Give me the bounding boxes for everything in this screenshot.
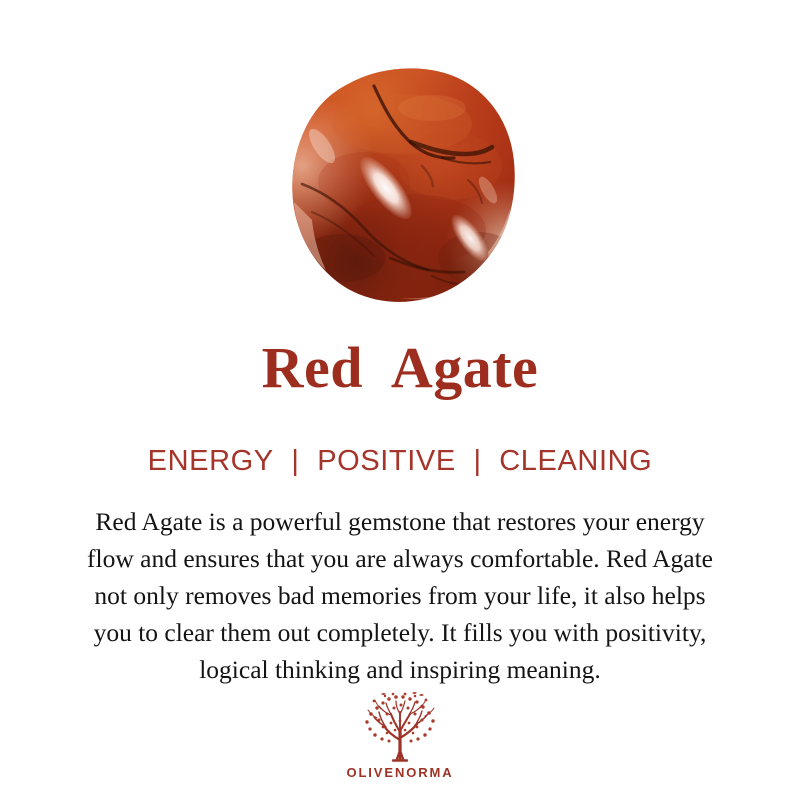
keyword-positive: POSITIVE: [317, 445, 456, 478]
page-title: Red Agate: [0, 337, 800, 399]
description-line: you to clear them out completely. It fil…: [18, 614, 782, 651]
description-line: flow and ensures that you are always com…: [18, 540, 782, 577]
brand-name: OLIVENORMA: [0, 765, 800, 780]
description-paragraph: Red Agate is a powerful gemstone that re…: [18, 503, 782, 688]
brand-logo: OLIVENORMA: [0, 692, 800, 780]
keyword-separator-1: |: [282, 445, 308, 478]
tree-logo-icon: [357, 692, 443, 764]
keyword-line: ENERGY | POSITIVE | CLEANING: [0, 445, 800, 478]
description-line: Red Agate is a powerful gemstone that re…: [18, 503, 782, 540]
keyword-energy: ENERGY: [148, 445, 274, 478]
gemstone-info-card: Red Agate ENERGY | POSITIVE | CLEANING R…: [0, 0, 800, 800]
description-line: not only removes bad memories from your …: [18, 577, 782, 614]
hero-image-area: [0, 0, 800, 320]
keyword-cleaning: CLEANING: [499, 445, 652, 478]
keyword-separator-2: |: [464, 445, 490, 478]
description-line: logical thinking and inspiring meaning.: [18, 651, 782, 688]
red-agate-stone-icon: [282, 62, 528, 310]
